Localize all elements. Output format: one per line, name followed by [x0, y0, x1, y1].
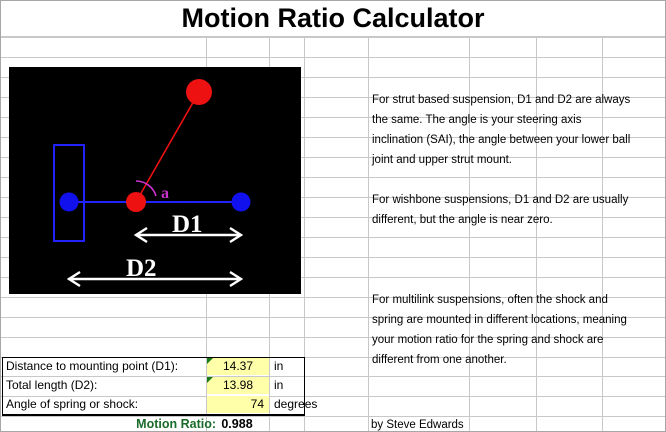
input-label-angle: Angle of spring or shock:	[6, 396, 138, 413]
input-value-angle[interactable]: 74	[207, 396, 269, 413]
d1-label: D1	[172, 211, 203, 238]
grid-vline	[368, 37, 369, 432]
grid-hline	[1, 416, 666, 417]
input-unit-d2: in	[274, 377, 283, 394]
outer-ball-joint-icon	[232, 193, 251, 212]
input-block-right-border	[304, 357, 305, 414]
grid-vline	[602, 397, 603, 432]
input-value-d1[interactable]: 14.37	[207, 358, 269, 375]
note-wishbone: For wishbone suspensions, D1 and D2 are …	[372, 190, 664, 230]
note-strut: For strut based suspension, D1 and D2 ar…	[372, 90, 664, 170]
suspension-geometry-diagram: a D1 D2	[9, 67, 301, 294]
angle-label: a	[161, 185, 169, 202]
result-value: 0.988	[206, 416, 268, 432]
spreadsheet-canvas: Motion Ratio Calculator	[0, 0, 666, 432]
inner-ball-joint-icon	[60, 193, 79, 212]
input-label-d2: Total length (D2):	[6, 377, 97, 394]
grid-vline	[536, 397, 537, 432]
grid-hline	[1, 376, 666, 377]
page-title-row: Motion Ratio Calculator	[1, 1, 665, 37]
input-value-d2[interactable]: 13.98	[207, 377, 269, 394]
upper-shock-mount-icon	[186, 79, 212, 105]
grid-vline	[368, 397, 369, 432]
grid-hline	[1, 37, 666, 38]
input-unit-angle: degrees	[274, 396, 317, 413]
input-label-d1: Distance to mounting point (D1):	[6, 358, 178, 375]
comment-indicator-icon[interactable]	[207, 377, 213, 383]
author-credit: by Steve Edwards	[371, 418, 464, 432]
note-multilink: For multilink suspensions, often the sho…	[372, 290, 664, 370]
comment-indicator-icon[interactable]	[207, 358, 213, 364]
shock-mounting-point-icon	[126, 192, 146, 212]
grid-hline	[1, 57, 666, 58]
input-block-left-border	[2, 357, 3, 414]
d2-label: D2	[126, 255, 157, 282]
result-label: Motion Ratio:	[121, 416, 216, 432]
page-title: Motion Ratio Calculator	[182, 5, 485, 32]
grid-vline	[469, 397, 470, 432]
input-unit-d1: in	[274, 358, 283, 375]
